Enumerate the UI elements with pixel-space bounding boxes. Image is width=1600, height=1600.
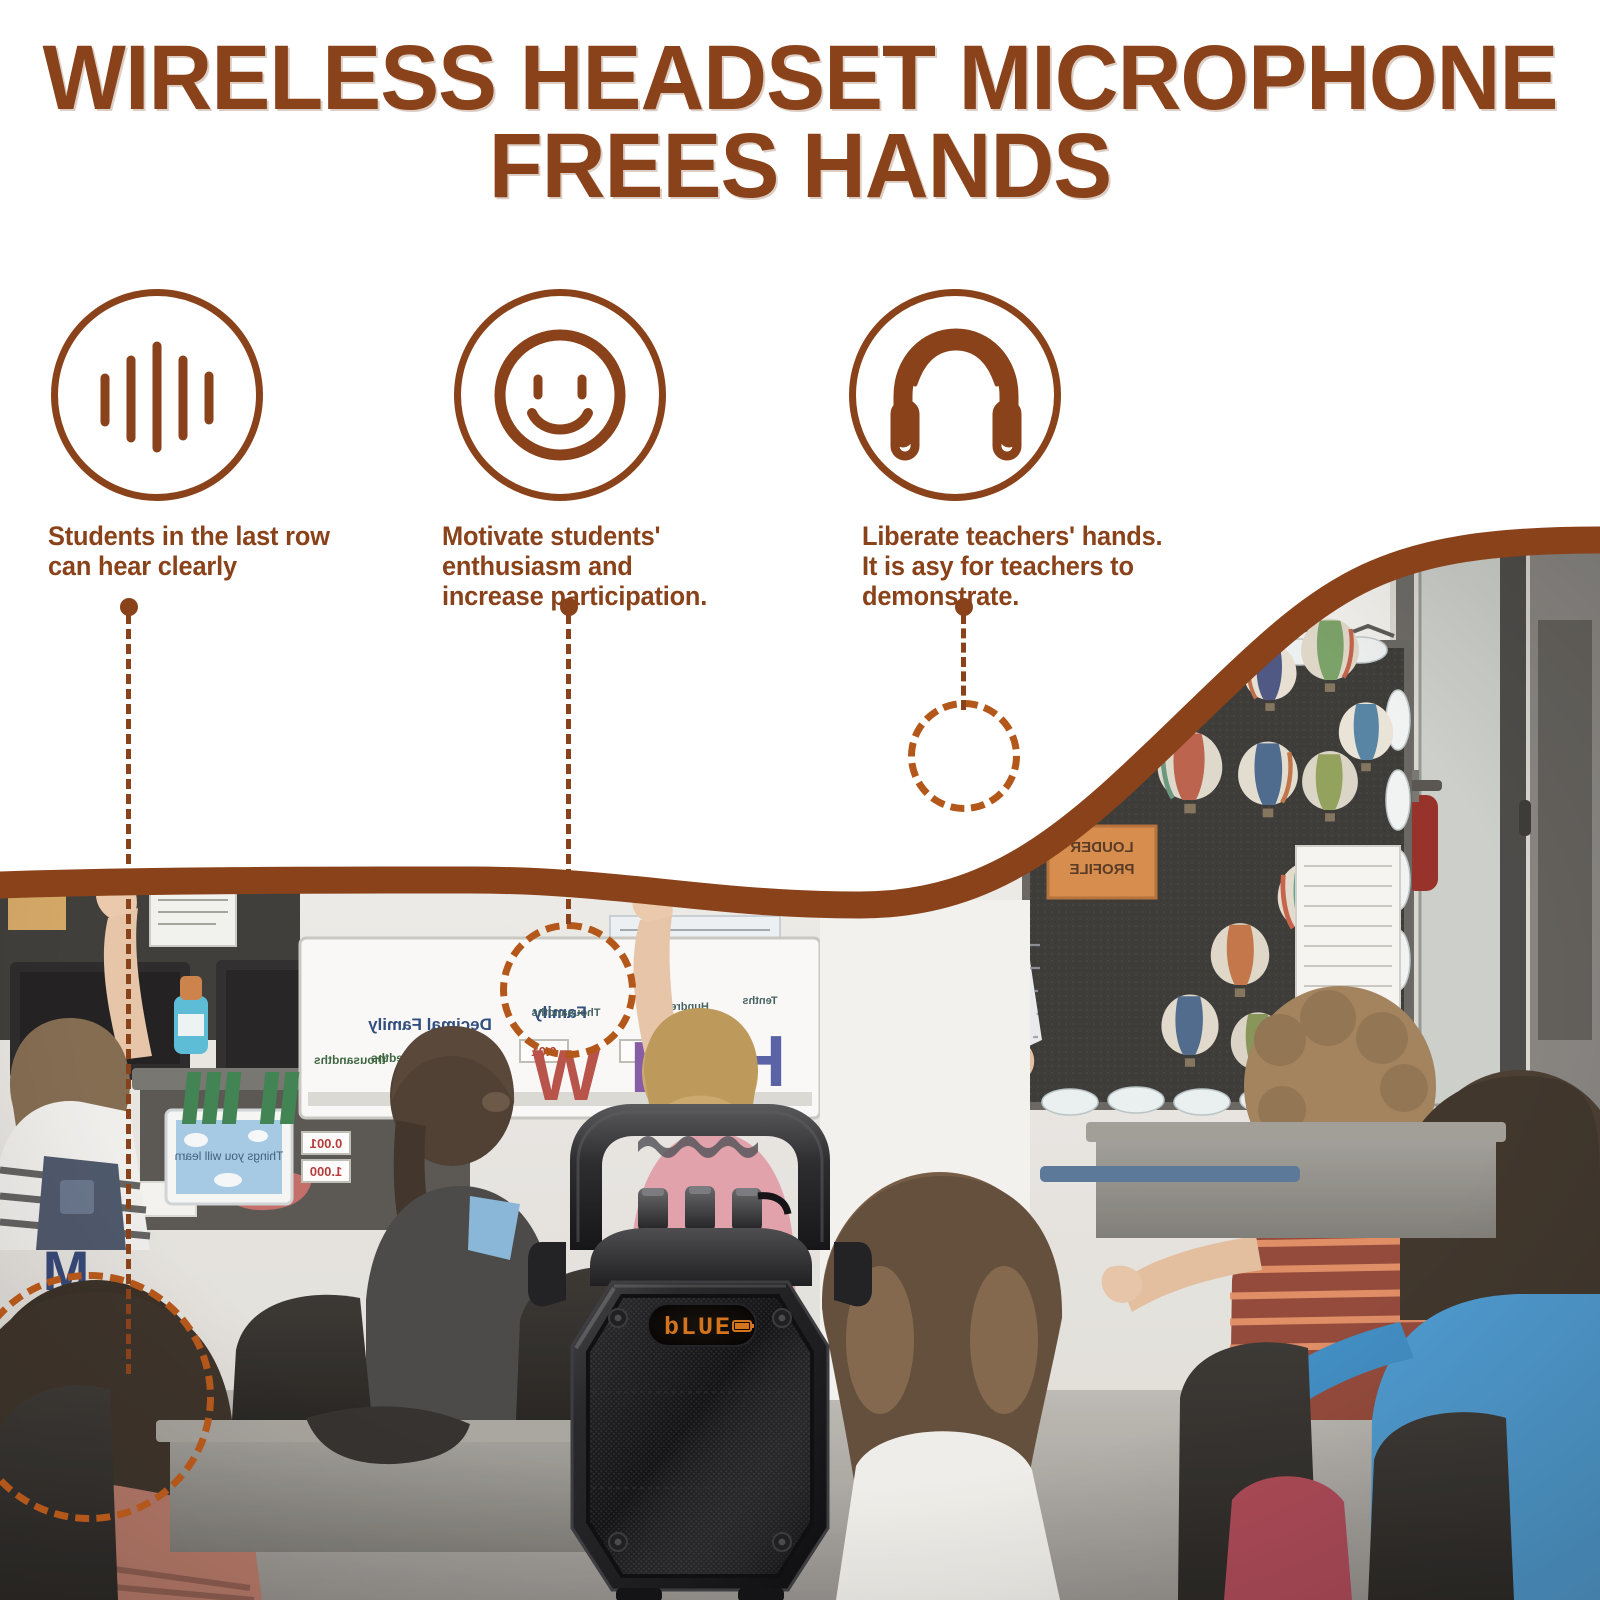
feature-1-lead-line [126,614,131,1374]
infographic-canvas: LOUDER PROFILE [0,0,1600,1600]
raised-hand-ring [500,922,636,1058]
teacher-headset-mic-ring [908,700,1020,812]
feature-3-lead-line [961,614,966,710]
feature-hands-free: Liberate teachers' hands. It is asy for … [800,0,1240,620]
sound-wave-icon [92,330,222,460]
headset-icon [885,326,1027,466]
portable-pa-speaker: bLUE [520,1090,880,1600]
speaker-display-text: bLUE [664,1313,732,1342]
feature-2-lead-line [566,614,571,924]
feature-student-motivation: Motivate students' enthusiasm and increa… [400,0,820,620]
feature-sound-clarity: Students in the last row can hear clearl… [0,0,400,620]
feature-2-text: Motivate students' enthusiasm and increa… [442,521,752,612]
feature-3-text: Liberate teachers' hands. It is asy for … [862,521,1200,612]
feature-1-text: Students in the last row can hear clearl… [48,521,368,581]
smiley-face-icon [488,323,632,467]
